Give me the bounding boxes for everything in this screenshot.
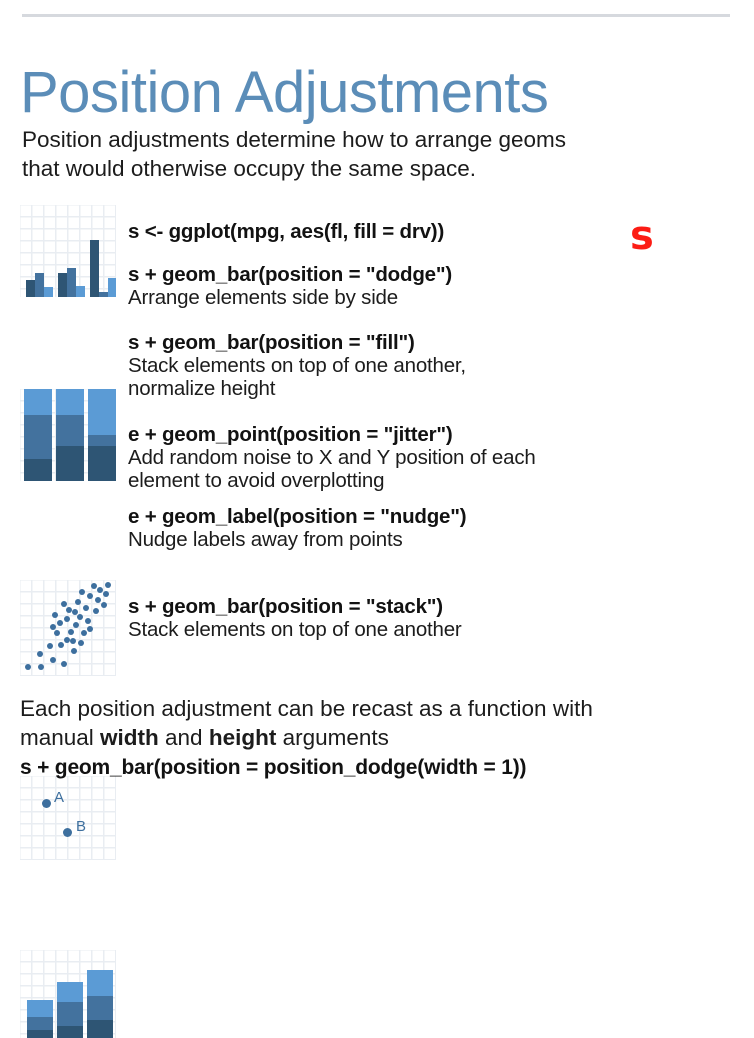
row-jitter-desc-line-2: element to avoid overplotting bbox=[128, 469, 748, 492]
jitter-point bbox=[101, 602, 107, 608]
fill-seg-d-r bbox=[56, 389, 84, 415]
jitter-point bbox=[93, 608, 99, 614]
fill-thumbnail bbox=[20, 389, 116, 481]
dodge-bar-e-f bbox=[99, 292, 108, 297]
nudge-point-a bbox=[42, 799, 51, 808]
jitter-point bbox=[64, 616, 70, 622]
row-jitter-code: e + geom_point(position = "jitter") bbox=[128, 423, 748, 446]
intro-paragraph: Position adjustments determine how to ar… bbox=[22, 125, 738, 183]
jitter-point bbox=[79, 589, 85, 595]
jitter-point bbox=[47, 643, 53, 649]
jitter-point bbox=[85, 618, 91, 624]
jitter-point bbox=[87, 626, 93, 632]
dodge-bar-d-f bbox=[67, 268, 76, 297]
fill-seg-d-4 bbox=[56, 446, 84, 481]
dodge-bar-c-4 bbox=[26, 280, 35, 297]
row-jitter-desc: Add random noise to X and Y position of … bbox=[128, 446, 748, 492]
dodge-bar-c-f bbox=[35, 273, 44, 297]
footer-line-2: manual width and height arguments bbox=[20, 723, 750, 752]
jitter-point bbox=[25, 664, 31, 670]
jitter-point bbox=[61, 661, 67, 667]
fill-bar-c bbox=[24, 389, 52, 481]
jitter-thumbnail-grid bbox=[20, 580, 116, 676]
red-annotation-marker: s bbox=[630, 216, 654, 256]
jitter-thumbnail bbox=[20, 580, 116, 676]
fill-seg-c-r bbox=[24, 389, 52, 415]
fill-seg-e-r bbox=[88, 389, 116, 435]
jitter-point bbox=[73, 622, 79, 628]
stack-seg-e-r bbox=[87, 970, 113, 996]
jitter-point bbox=[103, 591, 109, 597]
footer-bold-height: height bbox=[209, 725, 277, 750]
jitter-point bbox=[75, 599, 81, 605]
row-stack-text: s + geom_bar(position = "stack") Stack e… bbox=[128, 595, 748, 641]
stack-seg-c-r bbox=[27, 1000, 53, 1017]
intro-line-1: Position adjustments determine how to ar… bbox=[22, 125, 738, 154]
dodge-bar-d-r bbox=[76, 286, 85, 297]
jitter-point bbox=[58, 642, 64, 648]
stack-bar-e bbox=[87, 970, 113, 1038]
row-fill-desc-line-1: Stack elements on top of one another, bbox=[128, 354, 748, 377]
stack-seg-d-4 bbox=[57, 1026, 83, 1038]
jitter-point bbox=[50, 657, 56, 663]
footer-code-line: s + geom_bar(position = position_dodge(w… bbox=[20, 754, 750, 781]
jitter-point bbox=[61, 601, 67, 607]
row-fill-code: s + geom_bar(position = "fill") bbox=[128, 331, 748, 354]
jitter-point bbox=[105, 582, 111, 588]
footer-line-2-mid: and bbox=[159, 725, 209, 750]
jitter-point bbox=[91, 583, 97, 589]
footer-paragraph: Each position adjustment can be recast a… bbox=[20, 694, 750, 752]
row-setup-text: s <- ggplot(mpg, aes(fl, fill = drv)) bbox=[128, 220, 748, 243]
dodge-bar-e-4 bbox=[90, 240, 99, 297]
row-jitter-text: e + geom_point(position = "jitter") Add … bbox=[128, 423, 748, 492]
row-jitter-desc-line-1: Add random noise to X and Y position of … bbox=[128, 446, 748, 469]
dodge-thumbnail bbox=[20, 205, 116, 297]
jitter-point bbox=[37, 651, 43, 657]
row-setup-code: s <- ggplot(mpg, aes(fl, fill = drv)) bbox=[128, 220, 748, 243]
stack-seg-c-4 bbox=[27, 1030, 53, 1038]
jitter-point bbox=[54, 630, 60, 636]
footer-bold-width: width bbox=[100, 725, 159, 750]
jitter-point bbox=[78, 640, 84, 646]
fill-bar-d bbox=[56, 389, 84, 481]
stack-seg-e-4 bbox=[87, 1020, 113, 1038]
stack-seg-d-f bbox=[57, 1002, 83, 1026]
row-fill-desc-line-2: normalize height bbox=[128, 377, 748, 400]
jitter-point bbox=[50, 624, 56, 630]
fill-seg-d-f bbox=[56, 415, 84, 446]
stack-thumbnail bbox=[20, 950, 116, 1038]
fill-seg-e-4 bbox=[88, 446, 116, 481]
row-dodge-desc-line-1: Arrange elements side by side bbox=[128, 286, 748, 309]
jitter-point bbox=[52, 612, 58, 618]
row-nudge-code: e + geom_label(position = "nudge") bbox=[128, 505, 748, 528]
jitter-point bbox=[71, 648, 77, 654]
row-nudge-desc: Nudge labels away from points bbox=[128, 528, 748, 551]
dodge-bar-c-r bbox=[44, 287, 53, 297]
fill-seg-c-4 bbox=[24, 459, 52, 481]
stack-seg-c-f bbox=[27, 1017, 53, 1030]
jitter-point bbox=[57, 620, 63, 626]
page-title: Position Adjustments bbox=[20, 61, 548, 125]
jitter-point bbox=[68, 629, 74, 635]
row-fill-desc: Stack elements on top of one another, no… bbox=[128, 354, 748, 400]
stack-bar-d bbox=[57, 982, 83, 1038]
nudge-thumbnail: A B bbox=[20, 776, 116, 860]
dodge-bar-d-4 bbox=[58, 273, 67, 297]
nudge-label-a: A bbox=[54, 790, 64, 805]
row-stack-desc-line-1: Stack elements on top of one another bbox=[128, 618, 748, 641]
row-dodge-desc: Arrange elements side by side bbox=[128, 286, 748, 309]
row-nudge-desc-line-1: Nudge labels away from points bbox=[128, 528, 748, 551]
jitter-point bbox=[95, 597, 101, 603]
footer-line-2-post: arguments bbox=[276, 725, 389, 750]
nudge-label-b: B bbox=[76, 819, 86, 834]
footer-note: Each position adjustment can be recast a… bbox=[20, 694, 750, 781]
footer-line-1: Each position adjustment can be recast a… bbox=[20, 694, 750, 723]
row-dodge-text: s + geom_bar(position = "dodge") Arrange… bbox=[128, 263, 748, 309]
row-stack-code: s + geom_bar(position = "stack") bbox=[128, 595, 748, 618]
jitter-point bbox=[64, 637, 70, 643]
jitter-point bbox=[87, 593, 93, 599]
jitter-point bbox=[83, 605, 89, 611]
dodge-bar-e-r bbox=[108, 278, 116, 297]
jitter-point bbox=[38, 664, 44, 670]
footer-line-2-pre: manual bbox=[20, 725, 100, 750]
intro-line-2: that would otherwise occupy the same spa… bbox=[22, 154, 738, 183]
fill-bar-e bbox=[88, 389, 116, 481]
stack-seg-d-r bbox=[57, 982, 83, 1002]
nudge-point-b bbox=[63, 828, 72, 837]
stack-bar-c bbox=[27, 1000, 53, 1038]
header-divider bbox=[22, 14, 730, 17]
stack-seg-e-f bbox=[87, 996, 113, 1020]
jitter-point bbox=[97, 587, 103, 593]
row-stack-desc: Stack elements on top of one another bbox=[128, 618, 748, 641]
nudge-thumbnail-grid bbox=[20, 776, 116, 860]
fill-seg-e-f bbox=[88, 435, 116, 446]
row-dodge-code: s + geom_bar(position = "dodge") bbox=[128, 263, 748, 286]
row-fill-text: s + geom_bar(position = "fill") Stack el… bbox=[128, 331, 748, 400]
jitter-point bbox=[77, 614, 83, 620]
jitter-point bbox=[70, 638, 76, 644]
jitter-point bbox=[81, 630, 87, 636]
position-adjustments-list: s <- ggplot(mpg, aes(fl, fill = drv)) s … bbox=[0, 205, 754, 657]
row-nudge-text: e + geom_label(position = "nudge") Nudge… bbox=[128, 505, 748, 551]
fill-seg-c-f bbox=[24, 415, 52, 459]
